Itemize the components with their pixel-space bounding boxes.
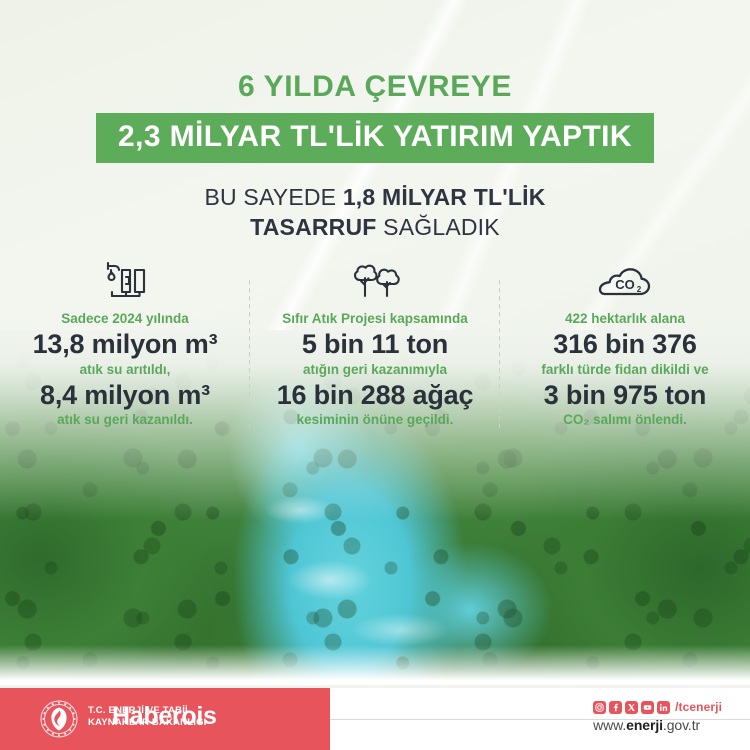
- instagram-icon[interactable]: [593, 701, 606, 714]
- stat-label-top: Sadece 2024 yılında: [12, 311, 238, 327]
- headline-banner: 2,3 MİLYAR TL'LİK YATIRIM YAPTIK: [96, 113, 654, 163]
- website-bold: enerji: [626, 717, 663, 733]
- photo-bottom-fade: [0, 645, 750, 685]
- co2-cloud-icon: CO 2: [512, 258, 738, 304]
- linkedin-icon[interactable]: [657, 701, 670, 714]
- stat-label-top: 422 hektarlık alana: [512, 311, 738, 327]
- svg-text:2: 2: [637, 285, 642, 294]
- x-twitter-icon[interactable]: [625, 701, 638, 714]
- social-icons-row: /tcenerji: [593, 700, 722, 714]
- stat-column-trees: Sıfır Atık Projesi kapsamında 5 bin 11 t…: [250, 258, 500, 429]
- subline-bold-amount: 1,8 MİLYAR TL'LİK: [343, 184, 546, 210]
- stat-value-2: 3 bin 975 ton: [512, 380, 738, 410]
- stat-label-bottom: atık su geri kazanıldı.: [12, 412, 238, 428]
- stat-column-co2: CO 2 422 hektarlık alana 316 bin 376 far…: [500, 258, 750, 429]
- stats-row: Sadece 2024 yılında 13,8 milyon m³ atık …: [0, 258, 750, 429]
- water-treatment-icon: [12, 258, 238, 304]
- stat-column-water: Sadece 2024 yılında 13,8 milyon m³ atık …: [0, 258, 250, 429]
- stat-value-2: 8,4 milyon m³: [12, 380, 238, 410]
- turkish-state-emblem-icon: [40, 700, 78, 738]
- trees-icon: [262, 258, 488, 304]
- stat-value-1: 316 bin 376: [512, 329, 738, 359]
- subline-post: SAĞLADIK: [377, 214, 500, 240]
- stat-label-bottom: CO₂ salımı önlendi.: [512, 412, 738, 428]
- stat-label-mid: atığın geri kazanımıyla: [262, 362, 488, 378]
- stat-value-2: 16 bin 288 ağaç: [262, 380, 488, 410]
- headline-block: 6 YILDA ÇEVREYE 2,3 MİLYAR TL'LİK YATIRI…: [0, 72, 750, 243]
- svg-text:CO: CO: [615, 277, 635, 292]
- stat-label-mid: farklı türde fidan dikildi ve: [512, 362, 738, 378]
- stat-value-1: 13,8 milyon m³: [12, 329, 238, 359]
- subline-pre: BU SAYEDE: [204, 184, 342, 210]
- website-post: .gov.tr: [663, 717, 700, 733]
- stat-label-bottom: kesiminin önüne geçildi.: [262, 412, 488, 428]
- infographic-poster: 6 YILDA ÇEVREYE 2,3 MİLYAR TL'LİK YATIRI…: [0, 0, 750, 750]
- stat-label-mid: atık su arıtıldı,: [12, 362, 238, 378]
- haberois-watermark: Haberois: [112, 702, 217, 731]
- headline-line-1: 6 YILDA ÇEVREYE: [0, 72, 750, 102]
- headline-subline: BU SAYEDE 1,8 MİLYAR TL'LİK TASARRUF SAĞ…: [0, 182, 750, 243]
- youtube-icon[interactable]: [641, 701, 654, 714]
- social-block: /tcenerji www.enerji.gov.tr: [593, 700, 722, 733]
- stat-label-top: Sıfır Atık Projesi kapsamında: [262, 311, 488, 327]
- social-handle[interactable]: /tcenerji: [675, 700, 722, 714]
- facebook-icon[interactable]: [609, 701, 622, 714]
- stat-value-1: 5 bin 11 ton: [262, 329, 488, 359]
- subline-bold-savings: TASARRUF: [250, 214, 376, 240]
- website-url[interactable]: www.enerji.gov.tr: [593, 717, 722, 733]
- website-pre: www.: [593, 717, 626, 733]
